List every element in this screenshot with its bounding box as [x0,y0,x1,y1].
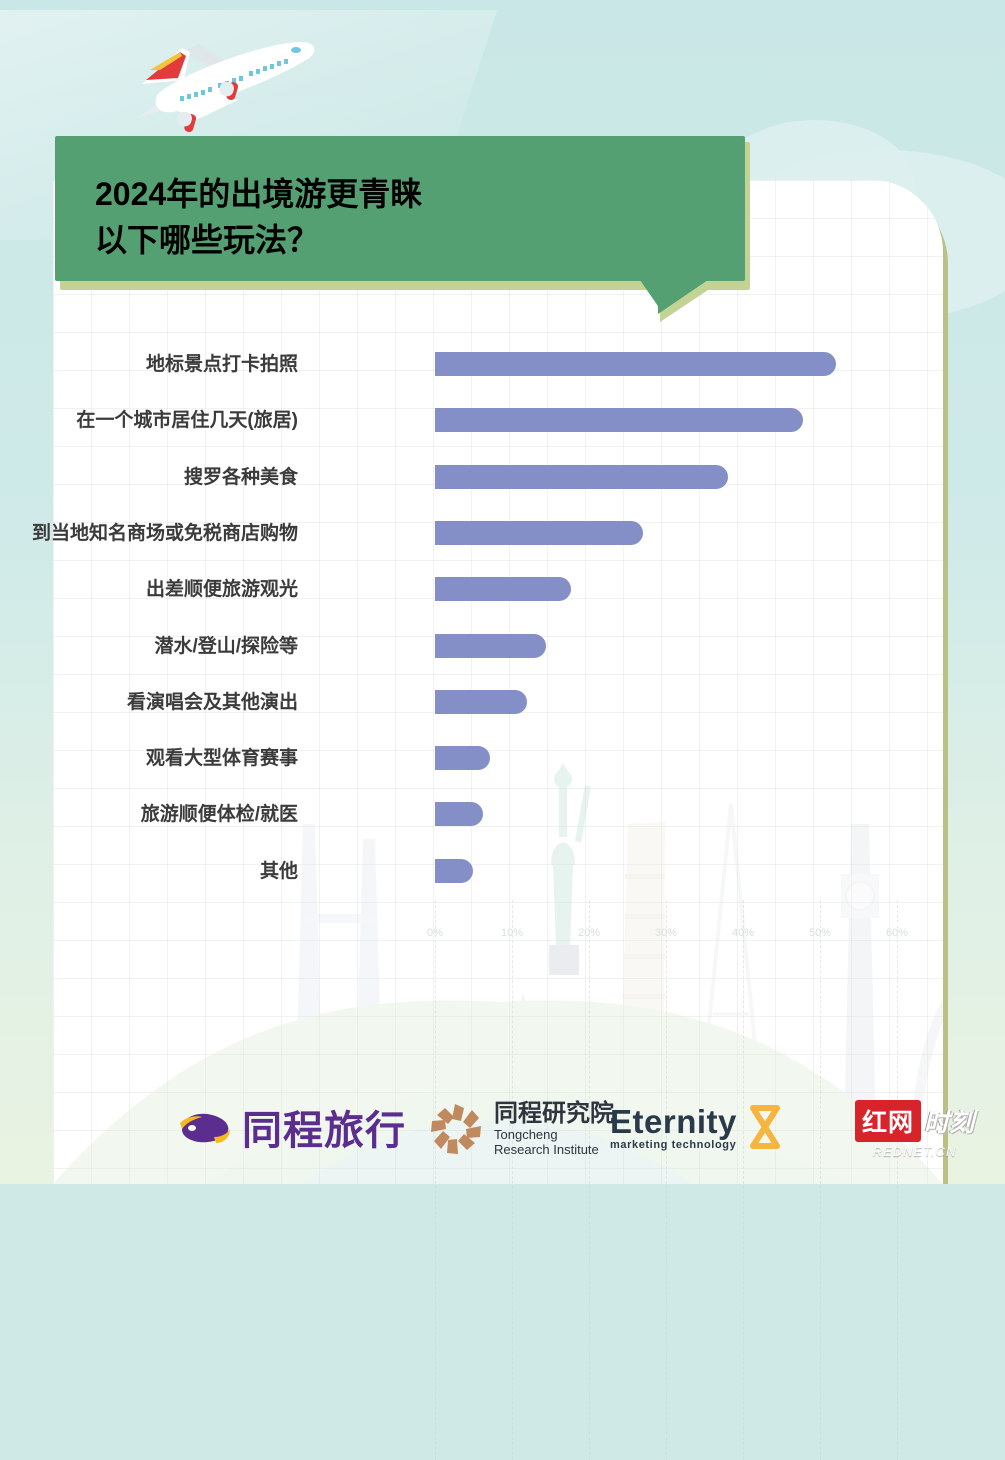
banner-tail [658,280,708,314]
tongcheng-travel-label: 同程旅行 [242,1098,406,1156]
chart-x-tick-label: 60% [886,927,908,939]
chart-category-label: 在一个城市居住几天(旅居) [0,405,298,432]
research-en-line1: Tongcheng [494,1127,614,1142]
chart-bar [435,408,803,432]
chart-category-label: 到当地知名商场或免税商店购物 [0,518,298,545]
chart-bar [435,802,483,826]
chart-category-label: 旅游顺便体检/就医 [0,799,298,826]
rednet-red-box: 红网 [855,1100,921,1142]
chart-gridline [743,900,745,1460]
chart-gridline [897,900,899,1460]
hourglass-icon [745,1102,785,1152]
rednet-white-label: 时刻 [924,1103,974,1139]
chart-gridline [435,900,437,1460]
bar-chart: 地标景点打卡拍照在一个城市居住几天(旅居)搜罗各种美食到当地知名商场或免税商店购… [53,180,943,940]
rednet-red-label: 红网 [862,1109,914,1137]
chart-category-label: 观看大型体育赛事 [0,743,298,770]
chart-x-tick-label: 50% [809,927,831,939]
chart-row: 搜罗各种美食 [53,465,943,489]
chart-x-tick-label: 0% [427,927,443,939]
title-line-2: 以下哪些玩法？ [95,215,755,261]
page-title: 2024年的出境游更青睐 以下哪些玩法？ [95,169,755,261]
eternity-sub-label: marketing technology [610,1139,737,1151]
chart-gridline [820,900,822,1460]
chart-category-label: 出差顺便旅游观光 [0,574,298,601]
chart-bar [435,521,643,545]
chart-bar [435,746,490,770]
chart-category-label: 地标景点打卡拍照 [0,349,298,376]
tongcheng-bird-icon [178,1107,234,1147]
logo-tongcheng-travel[interactable]: 同程旅行 [178,1098,406,1156]
chart-row: 观看大型体育赛事 [53,746,943,770]
chart-x-tick-label: 10% [501,927,523,939]
chart-x-tick-label: 20% [578,927,600,939]
rednet-sub-label: REDNET.CN [855,1144,974,1159]
chart-category-label: 搜罗各种美食 [0,462,298,489]
research-flower-icon [425,1100,485,1158]
chart-x-tick-label: 30% [655,927,677,939]
chart-bar [435,577,571,601]
logo-rednet[interactable]: 红网 时刻 REDNET.CN [855,1100,974,1159]
chart-bar [435,859,473,883]
chart-row: 潜水/登山/探险等 [53,634,943,658]
chart-row: 地标景点打卡拍照 [53,352,943,376]
logo-eternity[interactable]: Eternity marketing technology [610,1102,785,1152]
chart-bar [435,634,546,658]
title-line-1: 2024年的出境游更青睐 [95,169,755,215]
chart-row: 旅游顺便体检/就医 [53,802,943,826]
chart-gridline [589,900,591,1460]
chart-x-tick-label: 40% [732,927,754,939]
chart-row: 看演唱会及其他演出 [53,690,943,714]
chart-gridline [512,900,514,1460]
chart-bar [435,465,728,489]
chart-category-label: 潜水/登山/探险等 [0,631,298,658]
airplane-icon [120,22,330,132]
chart-row: 在一个城市居住几天(旅居) [53,408,943,432]
chart-row: 出差顺便旅游观光 [53,577,943,601]
chart-category-label: 看演唱会及其他演出 [0,687,298,714]
chart-x-axis: 0%10%20%30%40%50%60% [435,927,935,949]
research-en-line2: Research Institute [494,1142,614,1157]
banner-tail-left [640,280,662,312]
chart-category-label: 其他 [0,856,298,883]
footer-logos: 同程旅行 同程研究院 Tongcheng Research Institute … [0,1094,1005,1166]
eternity-label: Eternity [610,1103,737,1141]
research-cn-label: 同程研究院 [494,1101,614,1127]
chart-row: 到当地知名商场或免税商店购物 [53,521,943,545]
chart-row: 其他 [53,859,943,883]
logo-tongcheng-research-institute[interactable]: 同程研究院 Tongcheng Research Institute [425,1100,614,1158]
chart-gridline [666,900,668,1460]
chart-bar [435,690,527,714]
chart-bar [435,352,836,376]
